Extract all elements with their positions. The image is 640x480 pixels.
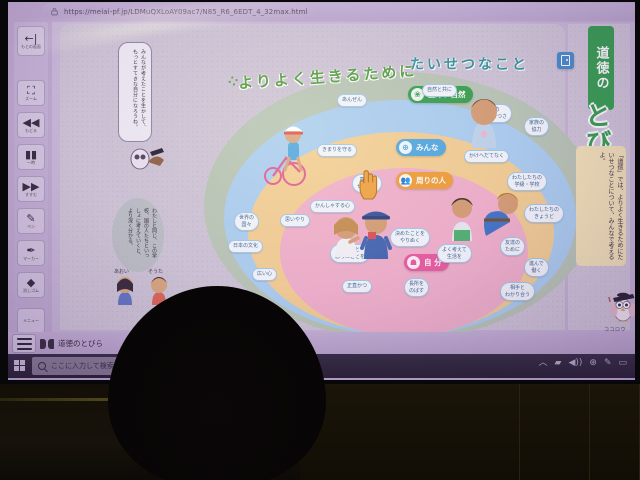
- rewind-label: もどる: [25, 129, 37, 133]
- rewind-icon: ◀◀: [23, 117, 40, 128]
- zoom-frame-icon: ⛶: [27, 85, 35, 96]
- marker-icon: ✒: [26, 245, 35, 256]
- back-to-page-label: もとの画面: [21, 45, 41, 49]
- headline-right: たいせつなこと: [410, 54, 529, 74]
- person-icon: ☗: [407, 256, 420, 269]
- value-cloud[interactable]: きまりを守る: [317, 144, 357, 157]
- pause-icon: ▮▮: [25, 149, 37, 160]
- lock-icon: [50, 7, 59, 16]
- value-cloud[interactable]: 長所を のばす: [404, 278, 429, 297]
- owl-and-cap-icon: [130, 144, 166, 170]
- photo-of-classroom-display: https://meiai-pf.jp/LDMuQXLoAY09ac7/N85_…: [0, 0, 640, 480]
- menu-label: メニュー: [23, 319, 39, 323]
- value-cloud[interactable]: 決めたことを やりぬく: [390, 228, 430, 247]
- search-icon: [38, 362, 46, 370]
- value-cloud[interactable]: 広い心: [252, 268, 277, 281]
- door-exit-icon[interactable]: [557, 52, 574, 69]
- category-pill-everyone[interactable]: ⊕ みんな: [396, 139, 446, 156]
- browser-url-bar[interactable]: https://meiai-pf.jp/LDMuQXLoAY09ac7/N85_…: [42, 3, 635, 20]
- girl-with-flower: [464, 92, 504, 150]
- browser-tab-title: 道徳のとびら: [58, 338, 103, 349]
- category-pill-people-around[interactable]: 👥 周りの人: [396, 172, 453, 189]
- pen-icon[interactable]: ✎: [604, 359, 612, 368]
- globe-icon: ⊕: [399, 141, 412, 154]
- battery-icon[interactable]: ▰: [555, 359, 562, 368]
- character-label-aoi: あおい: [114, 268, 129, 275]
- search-placeholder: ここに入力して検索: [51, 361, 114, 371]
- hamburger-menu-icon[interactable]: [12, 334, 36, 353]
- pause-label: 一時: [27, 161, 35, 165]
- hand-cursor-icon: [357, 170, 379, 200]
- value-cloud[interactable]: 進んで 働く: [524, 258, 549, 277]
- eraser-label: 消しゴム: [23, 289, 39, 293]
- value-cloud[interactable]: 自然と共に: [422, 84, 457, 97]
- browser-tab[interactable]: 道徳のとびら: [40, 335, 103, 352]
- category-label-everyone: みんな: [416, 142, 439, 153]
- windows-start-icon[interactable]: [14, 360, 25, 371]
- value-cloud[interactable]: かんしゃする心: [310, 200, 355, 213]
- value-cloud[interactable]: 相手と わかり合う: [500, 282, 535, 301]
- eraser-icon: ◆: [27, 277, 35, 288]
- viewer-toolbar: ←| もとの画面 ⛶ ズーム ◀◀ もどる ▮▮ 一時 ▶▶ すすむ ✎ ペン: [14, 22, 48, 338]
- marker-label: マーカー: [23, 257, 39, 261]
- zoom-tool-label: ズーム: [25, 97, 37, 101]
- mascot-owl-icon: [608, 290, 635, 324]
- people-icon: 👥: [399, 174, 412, 187]
- forward-icon: ▶▶: [23, 181, 40, 192]
- character-label-souta: そうた: [148, 268, 163, 275]
- value-cloud[interactable]: 正直かつ: [342, 280, 372, 293]
- lead-text: 「道徳」では、よりよく生きるためにたいせつなことについて、みんなで考えるよ。: [576, 148, 626, 264]
- display-screen: https://meiai-pf.jp/LDMuQXLoAY09ac7/N85_…: [8, 2, 635, 380]
- kids-playing-right: [472, 186, 520, 240]
- pen-button[interactable]: ✎ ペン: [17, 208, 45, 234]
- speech-balloon-top: みんなが考えたことを生かして、もっとすてきな自分になろうね。: [118, 42, 152, 142]
- value-cloud[interactable]: 日本の文化: [228, 240, 263, 253]
- value-cloud[interactable]: わたしたちの きょうど: [524, 204, 564, 223]
- pause-button[interactable]: ▮▮ 一時: [17, 144, 45, 170]
- rewind-button[interactable]: ◀◀ もどる: [17, 112, 45, 138]
- zoom-tool-button[interactable]: ⛶ ズーム: [17, 80, 45, 106]
- url-text: https://meiai-pf.jp/LDMuQXLoAY09ac7/N85_…: [64, 8, 308, 16]
- value-cloud[interactable]: よく考えて 生活を: [437, 244, 472, 263]
- system-tray: ︿ ▰ ◀)) ⊕ ✎ ▭: [539, 359, 628, 368]
- eraser-button[interactable]: ◆ 消しゴム: [17, 272, 45, 298]
- ime-icon[interactable]: ▭: [618, 359, 627, 368]
- back-to-page-button[interactable]: ←| もとの画面: [17, 26, 45, 56]
- pen-label: ペン: [27, 225, 35, 229]
- speech-balloon-bottom: わたしと同じ、この学校、国の人たちといっしょに考えていくと、より深く分かる。: [112, 198, 164, 272]
- character-aoi: [114, 274, 136, 306]
- category-label-people-around: 周りの人: [416, 175, 446, 186]
- value-cloud[interactable]: 思いやり: [280, 214, 310, 227]
- forward-label: すすむ: [25, 193, 37, 197]
- marker-button[interactable]: ✒ マーカー: [17, 240, 45, 266]
- girl-on-bicycle: [264, 114, 318, 186]
- website-content: ⁘ よりよく生きるために たいせつなこと ❀ 生命、自然 ⊕ みんな 👥 周りの…: [52, 22, 635, 332]
- value-cloud[interactable]: 世界の 国々: [234, 212, 259, 231]
- book-icon: [40, 339, 54, 349]
- volume-icon[interactable]: ◀)): [568, 359, 582, 368]
- back-arrow-icon: ←|: [25, 33, 38, 44]
- boy-in-uniform: [356, 204, 396, 260]
- pen-icon: ✎: [26, 213, 35, 224]
- menu-button[interactable]: メニュー: [17, 308, 45, 334]
- value-cloud[interactable]: あんぜん: [337, 94, 367, 107]
- value-cloud[interactable]: かけへだてなく: [464, 150, 509, 163]
- chevron-up-icon[interactable]: ︿: [539, 359, 548, 368]
- value-cloud[interactable]: 家族の 協力: [524, 117, 549, 136]
- network-icon[interactable]: ⊕: [589, 359, 597, 368]
- brand-top-label: 道徳の: [588, 26, 614, 110]
- forward-button[interactable]: ▶▶ すすむ: [17, 176, 45, 202]
